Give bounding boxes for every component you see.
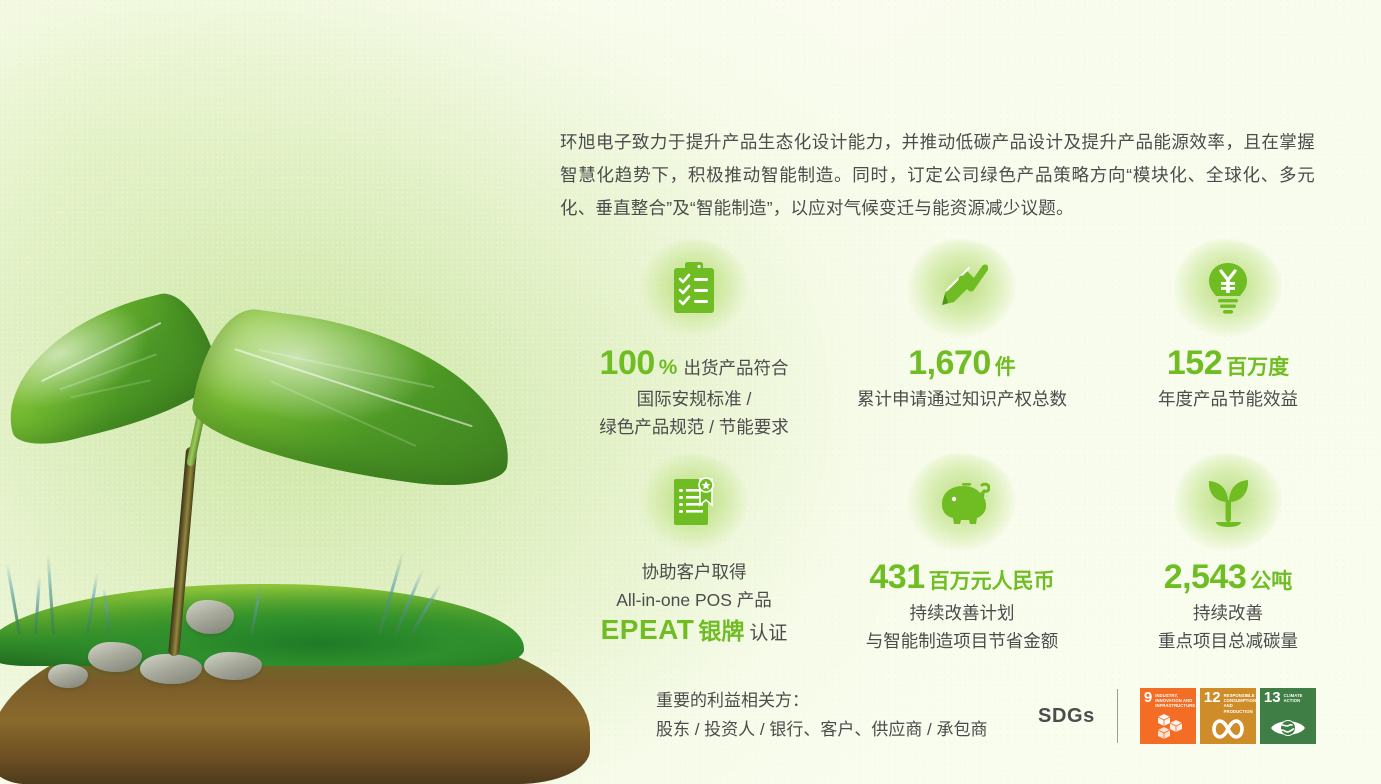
certification-line: EPEAT银牌认证 <box>560 616 828 648</box>
rock <box>48 664 88 688</box>
sdg-title: RESPONSIBLE CONSUMPTION AND PRODUCTION <box>1224 692 1256 714</box>
leaf-left <box>0 285 226 453</box>
certification-suffix: 认证 <box>749 623 787 644</box>
rock <box>204 652 262 680</box>
stat-desc-line: 持续改善 <box>1096 599 1360 627</box>
sprout-icon <box>1203 476 1253 528</box>
stat-unit: % <box>659 356 678 379</box>
stat-value-group: 2,543公吨 <box>1096 558 1360 597</box>
sdg-tile-9[interactable]: 9 INDUSTRY, INNOVATION AND INFRASTRUCTUR… <box>1140 688 1196 744</box>
stat-icon-badge <box>909 240 1015 336</box>
sdg-number: 13 <box>1264 692 1281 703</box>
stat-number: 152 <box>1167 344 1222 382</box>
certificate-star-icon <box>670 475 718 529</box>
stat-value-group: 100% <box>600 344 678 383</box>
sdg-divider <box>1117 689 1118 743</box>
stat-icon-badge <box>641 240 747 336</box>
cubes-icon <box>1153 712 1183 740</box>
stat-icon-badge <box>641 454 747 550</box>
stat-number: 1,670 <box>908 344 991 382</box>
stat-unit: 件 <box>995 356 1016 379</box>
clipboard-checklist-icon <box>671 261 717 315</box>
stat-desc-line: 重点项目总减碳量 <box>1096 627 1360 655</box>
rock <box>140 654 202 684</box>
stat-value-group: 1,670件 <box>828 344 1096 383</box>
stat-number: 2,543 <box>1164 558 1247 596</box>
stat-description: 持续改善计划 与智能制造项目节省金额 <box>828 599 1096 655</box>
stat-desc-line: 年度产品节能效益 <box>1096 385 1360 413</box>
sdg-tile-12[interactable]: 12 RESPONSIBLE CONSUMPTION AND PRODUCTIO… <box>1200 688 1256 744</box>
stat-value-group: 431百万元人民币 <box>828 558 1096 597</box>
stat-description: 国际安规标准 / 绿色产品规范 / 节能要求 <box>560 385 828 441</box>
rock <box>88 642 142 672</box>
stat-number: 431 <box>869 558 924 596</box>
moss-layer <box>0 584 524 666</box>
stat-value-group: 152百万度 <box>1096 344 1360 383</box>
stat-icon-badge <box>1175 454 1281 550</box>
stat-unit: 百万元人民币 <box>929 570 1055 593</box>
sdg-number: 12 <box>1204 692 1221 703</box>
infinity-icon <box>1211 718 1245 740</box>
leaf-right <box>186 302 524 495</box>
stat-description: 年度产品节能效益 <box>1096 385 1360 413</box>
stat-icon-badge <box>909 454 1015 550</box>
certification-grade: 银牌 <box>698 618 744 644</box>
sdg-title: CLIMATE ACTION <box>1284 692 1313 703</box>
stakeholders-block: 重要的利益相关方： 股东 / 投资人 / 银行、客户、供应商 / 承包商 <box>656 686 988 744</box>
sdg-block: SDGs 9 INDUSTRY, INNOVATION AND INFRASTR… <box>1038 688 1316 744</box>
stat-desc-line: 持续改善计划 <box>828 599 1096 627</box>
stat-unit: 百万度 <box>1226 356 1289 379</box>
stat-desc-inline: 出货产品符合 <box>683 358 788 378</box>
stat-primary-line: 100%出货产品符合 <box>560 344 828 385</box>
footer: 重要的利益相关方： 股东 / 投资人 / 银行、客户、供应商 / 承包商 SDG… <box>656 686 1381 744</box>
stat-description: 协助客户取得 All-in-one POS 产品 EPEAT银牌认证 <box>560 558 828 648</box>
stakeholders-title: 重要的利益相关方： <box>656 686 988 715</box>
sdg-label: SDGs <box>1038 705 1095 728</box>
stat-desc-line: 累计申请通过知识产权总数 <box>828 385 1096 413</box>
page-root: 环旭电子致力于提升产品生态化设计能力，并推动低碳产品设计及提升产品能源效率，且在… <box>0 0 1381 784</box>
content-column: 环旭电子致力于提升产品生态化设计能力，并推动低碳产品设计及提升产品能源效率，且在… <box>560 0 1381 784</box>
stat-card: 2,543公吨 持续改善 重点项目总减碳量 <box>1096 450 1360 655</box>
stat-desc-line: 绿色产品规范 / 节能要求 <box>560 413 828 441</box>
stat-desc-line: 与智能制造项目节省金额 <box>828 627 1096 655</box>
stat-description: 持续改善 重点项目总减碳量 <box>1096 599 1360 655</box>
stat-desc-line: 国际安规标准 / <box>560 385 828 413</box>
stats-grid: 100%出货产品符合 国际安规标准 / 绿色产品规范 / 节能要求 <box>560 236 1360 655</box>
sdg-tile-header: 12 RESPONSIBLE CONSUMPTION AND PRODUCTIO… <box>1200 688 1256 714</box>
stat-desc-line: 协助客户取得 <box>560 558 828 586</box>
sdg-number: 9 <box>1144 692 1152 703</box>
stat-desc-line: All-in-one POS 产品 <box>560 586 828 614</box>
piggy-bank-icon <box>934 478 990 526</box>
intro-paragraph: 环旭电子致力于提升产品生态化设计能力，并推动低碳产品设计及提升产品能源效率，且在… <box>560 126 1315 225</box>
rock <box>186 600 234 634</box>
stat-card: 152百万度 年度产品节能效益 <box>1096 236 1360 450</box>
sdg-tile-header: 13 CLIMATE ACTION <box>1260 688 1316 703</box>
stat-card: 1,670件 累计申请通过知识产权总数 <box>828 236 1096 450</box>
stat-card: 100%出货产品符合 国际安规标准 / 绿色产品规范 / 节能要求 <box>560 236 828 450</box>
stakeholders-list: 股东 / 投资人 / 银行、客户、供应商 / 承包商 <box>656 715 988 744</box>
sdg-tiles: 9 INDUSTRY, INNOVATION AND INFRASTRUCTUR… <box>1140 688 1316 744</box>
seedling-illustration <box>0 250 610 784</box>
stat-unit: 公吨 <box>1250 570 1292 593</box>
sdg-title: INDUSTRY, INNOVATION AND INFRASTRUCTURE <box>1155 692 1195 709</box>
stat-card: 431百万元人民币 持续改善计划 与智能制造项目节省金额 <box>828 450 1096 655</box>
lightbulb-yen-icon <box>1206 261 1250 315</box>
stat-number: 100 <box>600 344 655 382</box>
stat-description: 累计申请通过知识产权总数 <box>828 385 1096 413</box>
stat-card: 协助客户取得 All-in-one POS 产品 EPEAT银牌认证 <box>560 450 828 655</box>
certification-name: EPEAT <box>601 614 695 645</box>
sdg-tile-13[interactable]: 13 CLIMATE ACTION <box>1260 688 1316 744</box>
pencil-check-icon <box>936 263 988 313</box>
eye-earth-icon <box>1270 716 1306 740</box>
sdg-tile-header: 9 INDUSTRY, INNOVATION AND INFRASTRUCTUR… <box>1140 688 1196 709</box>
stat-icon-badge <box>1175 240 1281 336</box>
